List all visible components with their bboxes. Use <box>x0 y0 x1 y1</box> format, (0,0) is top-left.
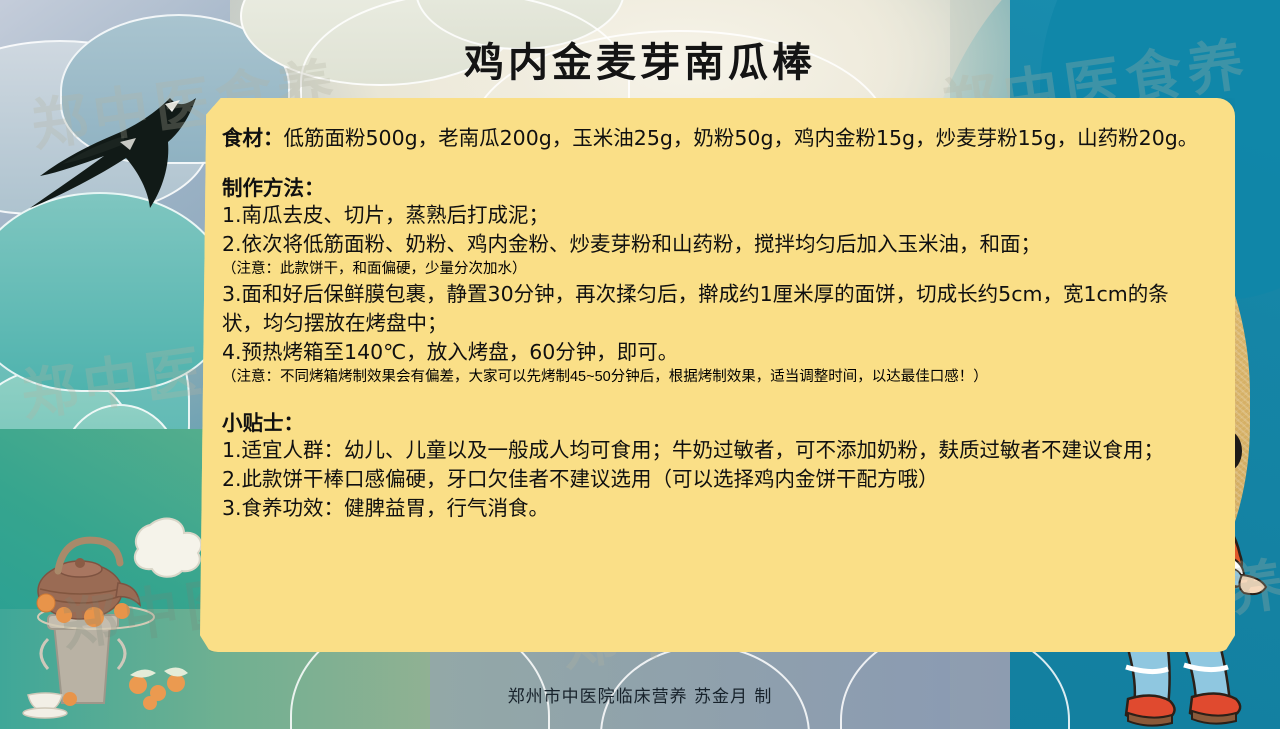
tips-heading: 小贴士： <box>222 406 1205 436</box>
method-step-4-note: （注意：不同烤箱烤制效果会有偏差，大家可以先烤制45~50分钟后，根据烤制效果，… <box>222 368 1205 388</box>
footer-credit: 郑州市中医院临床营养 苏金月 制 <box>0 682 1280 707</box>
recipe-card: 食材：低筋面粉500g，老南瓜200g，玉米油25g，奶粉50g，鸡内金粉15g… <box>200 98 1235 652</box>
tips-item-1: 1.适宜人群：幼儿、儿童以及一般成人均可食用；牛奶过敏者，可不添加奶粉，麸质过敏… <box>222 436 1205 465</box>
method-step-4: 4.预热烤箱至140℃，放入烤盘，60分钟，即可。 <box>222 338 1205 367</box>
page-title: 鸡内金麦芽南瓜棒 <box>0 30 1280 88</box>
tips-item-2: 2.此款饼干棒口感偏硬，牙口欠佳者不建议选用（可以选择鸡内金饼干配方哦） <box>222 465 1205 494</box>
ingredients-text: 低筋面粉500g，老南瓜200g，玉米油25g，奶粉50g，鸡内金粉15g，炒麦… <box>284 126 1199 150</box>
method-heading: 制作方法： <box>222 171 1205 201</box>
method-step-3: 3.面和好后保鲜膜包裹，静置30分钟，再次揉匀后，擀成约1厘米厚的面饼，切成长约… <box>222 280 1205 338</box>
tips-item-3: 3.食养功效：健脾益胃，行气消食。 <box>222 494 1205 523</box>
method-step-1: 1.南瓜去皮、切片，蒸熟后打成泥； <box>222 201 1205 230</box>
ingredients-label: 食材： <box>222 126 284 150</box>
ingredients-section: 食材：低筋面粉500g，老南瓜200g，玉米油25g，奶粉50g，鸡内金粉15g… <box>222 124 1205 153</box>
method-step-2: 2.依次将低筋面粉、奶粉、鸡内金粉、炒麦芽粉和山药粉，搅拌均匀后加入玉米油，和面… <box>222 230 1205 259</box>
method-step-2-note: （注意：此款饼干，和面偏硬，少量分次加水） <box>222 260 1205 280</box>
